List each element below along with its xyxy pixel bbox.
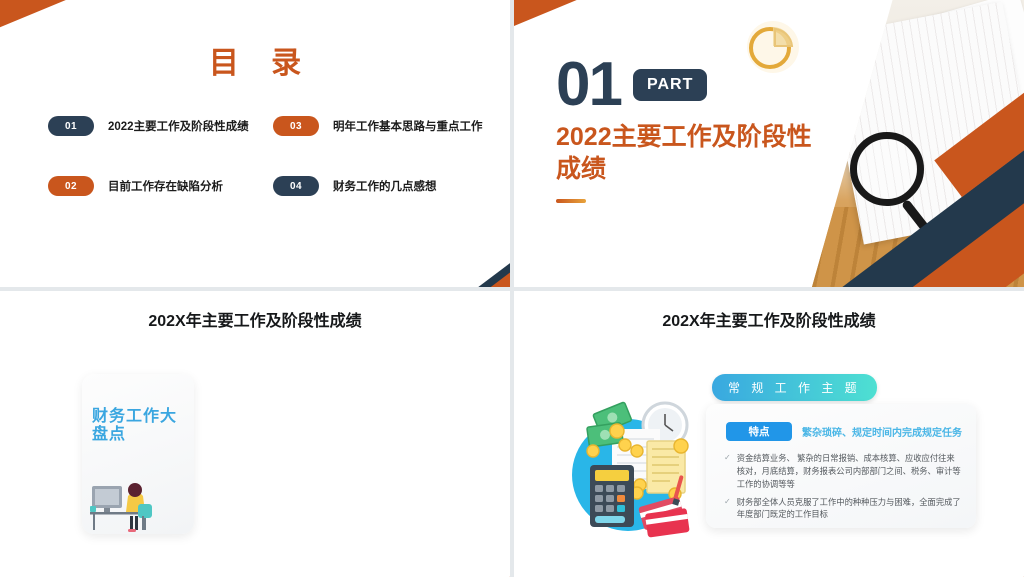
toc-item-label: 2022主要工作及阶段性成绩: [108, 118, 249, 134]
feature-badge: 特点: [726, 422, 792, 441]
list-item: ✓ 财务部全体人员克服了工作中的种种压力与困难，全面完成了年度部门既定的工作目标: [724, 496, 962, 522]
feature-subtitle: 繁杂琐碎、规定时间内完成规定任务: [802, 424, 962, 439]
corner-stripe-orange-bottomright: [433, 544, 510, 577]
corner-stripe-orange-topleft: [0, 291, 79, 303]
corner-stripe-orange-bottomright: [376, 265, 510, 287]
corner-stripe-navy-bottomright: [437, 566, 510, 577]
part-badge: PART: [633, 69, 707, 101]
list-item: ✓ 资金结算业务、 繁杂的日常报销、成本核算、应收应付往来核对，月底结算，财务报…: [724, 452, 962, 491]
slide-3-work-overview[interactable]: 202X年主要工作及阶段性成绩 财务工作大盘点: [0, 291, 510, 577]
slide-4-routine-work-theme[interactable]: 202X年主要工作及阶段性成绩: [514, 291, 1024, 577]
section-title: 2022主要工作及阶段性成绩: [556, 121, 826, 185]
bullet-list: ✓ 资金结算业务、 繁杂的日常报销、成本核算、应收应付往来核对，月底结算，财务报…: [724, 452, 962, 526]
toc-list: 01 2022主要工作及阶段性成绩 03 明年工作基本思路与重点工作 02 目前…: [48, 116, 490, 196]
content-card: 特点 繁杂琐碎、规定时间内完成规定任务 ✓ 资金结算业务、 繁杂的日常报销、成本…: [706, 404, 976, 528]
toc-number-badge: 03: [273, 116, 319, 136]
corner-stripe-orange-topleft: [514, 291, 593, 303]
check-icon: ✓: [724, 452, 731, 491]
page-title: 202X年主要工作及阶段性成绩: [0, 307, 510, 331]
list-item[interactable]: 04 财务工作的几点感想: [273, 176, 490, 196]
bullet-text: 财务部全体人员克服了工作中的种种压力与困难，全面完成了年度部门既定的工作目标: [737, 496, 962, 522]
corner-triangle-orange-topleft: [514, 0, 596, 50]
toc-item-label: 目前工作存在缺陷分析: [108, 178, 223, 194]
list-item[interactable]: 01 2022主要工作及阶段性成绩: [48, 116, 265, 136]
corner-stripe-orange-bottomright: [947, 544, 1024, 577]
finance-illustration: [562, 389, 707, 539]
page-title: 目 录: [0, 38, 510, 82]
toc-number-badge: 01: [48, 116, 94, 136]
slide-1-table-of-contents[interactable]: 目 录 01 2022主要工作及阶段性成绩 03 明年工作基本思路与重点工作 0…: [0, 0, 510, 287]
accent-underline: [556, 199, 586, 203]
card-title: 财务工作大盘点: [92, 408, 186, 444]
bullet-text: 资金结算业务、 繁杂的日常报销、成本核算、应收应付往来核对，月底结算，财务报表公…: [737, 452, 962, 491]
magnifier-icon: [850, 132, 924, 206]
section-heading-block: 01 PART 2022主要工作及阶段性成绩: [556, 56, 826, 203]
check-icon: ✓: [724, 496, 731, 522]
slide-2-section-divider[interactable]: 01 PART 2022主要工作及阶段性成绩: [514, 0, 1024, 287]
list-item[interactable]: 02 目前工作存在缺陷分析: [48, 176, 265, 196]
slide-thumbnail-grid: 目 录 01 2022主要工作及阶段性成绩 03 明年工作基本思路与重点工作 0…: [0, 0, 1024, 577]
section-number: 01: [556, 56, 621, 113]
corner-stripe-navy-bottomright: [951, 566, 1024, 577]
list-item[interactable]: 03 明年工作基本思路与重点工作: [273, 116, 490, 136]
corner-stripe-navy-bottomright: [376, 238, 510, 287]
toc-item-label: 明年工作基本思路与重点工作: [333, 118, 483, 134]
toc-number-badge: 04: [273, 176, 319, 196]
toc-number-badge: 02: [48, 176, 94, 196]
number-and-part-row: 01 PART: [556, 56, 826, 113]
desk-photo: [812, 0, 1024, 287]
toc-item-label: 财务工作的几点感想: [333, 178, 437, 194]
person-at-desk-illustration: [90, 474, 190, 532]
page-title: 202X年主要工作及阶段性成绩: [514, 307, 1024, 331]
theme-pill: 常 规 工 作 主 题: [712, 374, 877, 401]
